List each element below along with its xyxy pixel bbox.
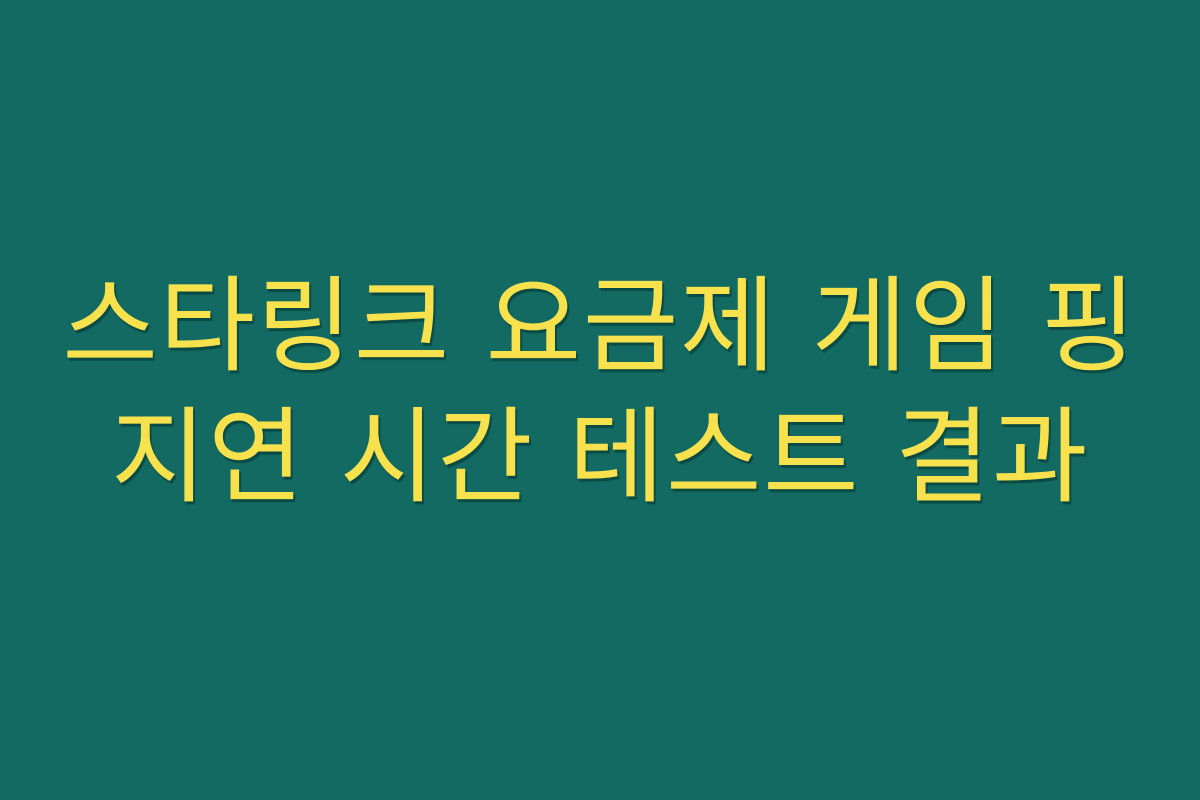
- title-line-1: 스타링크 요금제 게임 핑: [40, 261, 1160, 392]
- title-line-2: 지연 시간 테스트 결과: [40, 392, 1160, 523]
- page-title: 스타링크 요금제 게임 핑 지연 시간 테스트 결과: [0, 261, 1200, 523]
- banner-container: 스타링크 요금제 게임 핑 지연 시간 테스트 결과: [0, 0, 1200, 800]
